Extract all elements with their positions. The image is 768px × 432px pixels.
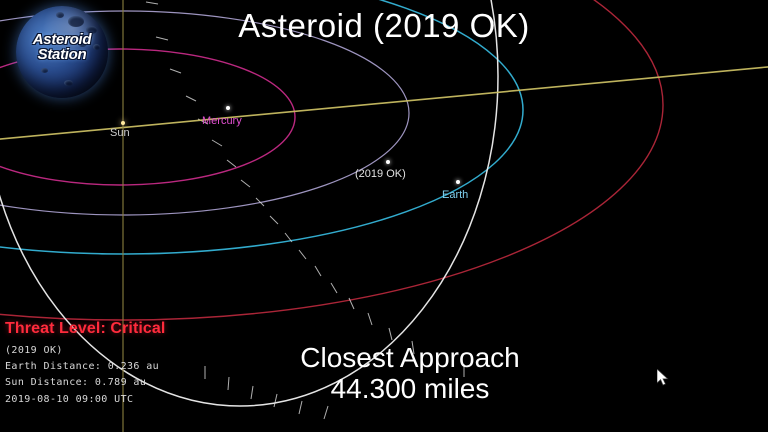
closest-approach-caption: Closest Approach 44.300 miles (180, 342, 640, 405)
page-title: Asteroid (2019 OK) (0, 7, 768, 45)
viewer-stage: Asteroid Station Asteroid (2019 OK) Sun … (0, 0, 768, 432)
asteroid-marker (386, 160, 390, 164)
asteroid-label: (2019 OK) (355, 168, 406, 180)
mouse-cursor (657, 369, 669, 387)
mercury-label: Mercury (202, 115, 242, 127)
logo-line-2: Station (16, 47, 108, 62)
threat-level-badge: Threat Level: Critical (5, 320, 225, 338)
mercury-marker (226, 106, 230, 110)
sun-marker (121, 121, 125, 125)
earth-marker (456, 180, 460, 184)
earth-label: Earth (442, 189, 468, 201)
caption-line-2: 44.300 miles (180, 373, 640, 404)
caption-line-1: Closest Approach (180, 342, 640, 373)
sun-label: Sun (110, 127, 130, 139)
